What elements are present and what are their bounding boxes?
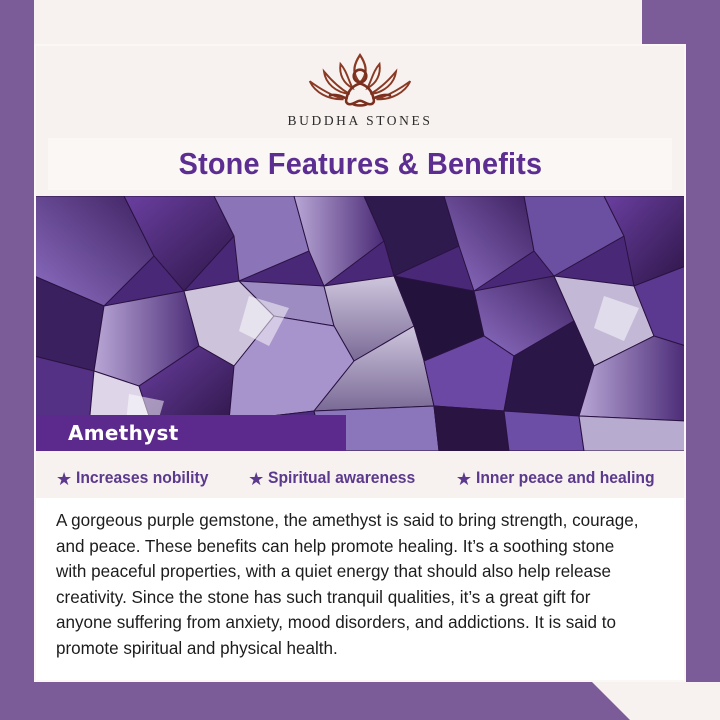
benefit-label: Spiritual awareness: [268, 469, 415, 488]
title-panel: Stone Features & Benefits: [48, 138, 672, 190]
page-root: BUDDHA STONES Stone Features & Benefits: [0, 0, 720, 720]
frame-bottom-bar: [0, 682, 592, 720]
frame-right-band: [686, 0, 720, 682]
benefit-label: Increases nobility: [76, 469, 208, 488]
page-title: Stone Features & Benefits: [178, 146, 542, 182]
benefit-label: Inner peace and healing: [476, 469, 655, 488]
stone-name-label: Amethyst: [68, 421, 179, 445]
description-text: A gorgeous purple gemstone, the amethyst…: [56, 508, 646, 661]
description-panel: A gorgeous purple gemstone, the amethyst…: [34, 498, 686, 682]
benefit-item: ★ Inner peace and healing: [456, 469, 664, 488]
amethyst-crystal-graphic: [34, 196, 686, 451]
frame-bottom-chamfer: [592, 682, 630, 720]
lotus-meditation-icon: [284, 46, 436, 112]
amethyst-photo: Amethyst: [34, 196, 686, 451]
star-icon: ★: [456, 470, 472, 488]
brand-logo: BUDDHA STONES: [34, 44, 686, 138]
benefit-item: ★ Spiritual awareness: [248, 469, 423, 488]
star-icon: ★: [248, 470, 264, 488]
frame-top-right-band: [642, 0, 720, 44]
star-icon: ★: [56, 470, 72, 488]
benefits-row: ★ Increases nobility ★ Spiritual awarene…: [34, 451, 686, 488]
benefit-item: ★ Increases nobility: [56, 469, 216, 488]
brand-wordmark: BUDDHA STONES: [288, 113, 433, 129]
stone-name-banner: Amethyst: [34, 415, 346, 451]
frame-left-band: [0, 0, 34, 720]
content-column: BUDDHA STONES Stone Features & Benefits: [34, 44, 686, 682]
